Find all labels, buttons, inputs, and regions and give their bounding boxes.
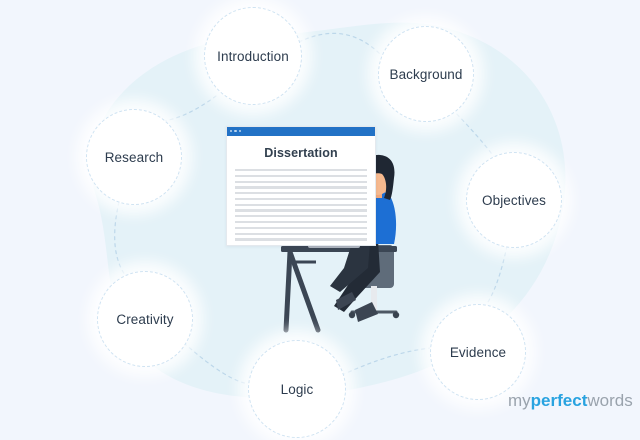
document-text-line	[235, 204, 367, 206]
document-text-line	[235, 181, 367, 183]
document-text-line	[235, 192, 367, 194]
infographic-canvas: Dissertation Introduction Background Res…	[0, 0, 640, 440]
logo-part-words: words	[587, 391, 632, 410]
window-dot-icon	[230, 130, 232, 132]
logo-part-perfect: perfect	[531, 391, 588, 410]
dissertation-document-window: Dissertation	[226, 126, 376, 246]
node-objectives[interactable]: Objectives	[466, 152, 562, 248]
node-introduction[interactable]: Introduction	[204, 7, 302, 105]
document-text-line	[235, 198, 367, 200]
node-label: Objectives	[482, 193, 546, 208]
document-text-line	[235, 215, 367, 217]
node-label: Background	[389, 67, 462, 82]
node-evidence[interactable]: Evidence	[430, 304, 526, 400]
node-label: Creativity	[116, 312, 173, 327]
document-titlebar	[227, 127, 375, 136]
document-text-line	[235, 221, 367, 223]
document-text-line	[235, 209, 367, 211]
document-text-line	[235, 233, 367, 235]
window-dot-icon	[234, 130, 236, 132]
window-dot-icon	[239, 130, 241, 132]
document-text-line	[235, 238, 367, 240]
document-text-line	[235, 175, 367, 177]
node-label: Research	[105, 150, 164, 165]
document-text-line	[235, 169, 367, 171]
document-text-lines	[235, 169, 367, 241]
node-research[interactable]: Research	[86, 109, 182, 205]
node-label: Evidence	[450, 345, 506, 360]
node-background[interactable]: Background	[378, 26, 474, 122]
document-heading: Dissertation	[227, 146, 375, 160]
document-text-line	[235, 227, 367, 229]
node-label: Logic	[281, 382, 314, 397]
node-creativity[interactable]: Creativity	[97, 271, 193, 367]
node-logic[interactable]: Logic	[248, 340, 346, 438]
node-label: Introduction	[217, 49, 289, 64]
document-text-line	[235, 186, 367, 188]
window-dots	[230, 130, 241, 132]
brand-logo[interactable]: myperfectwords	[508, 392, 633, 409]
logo-part-my: my	[508, 391, 531, 410]
